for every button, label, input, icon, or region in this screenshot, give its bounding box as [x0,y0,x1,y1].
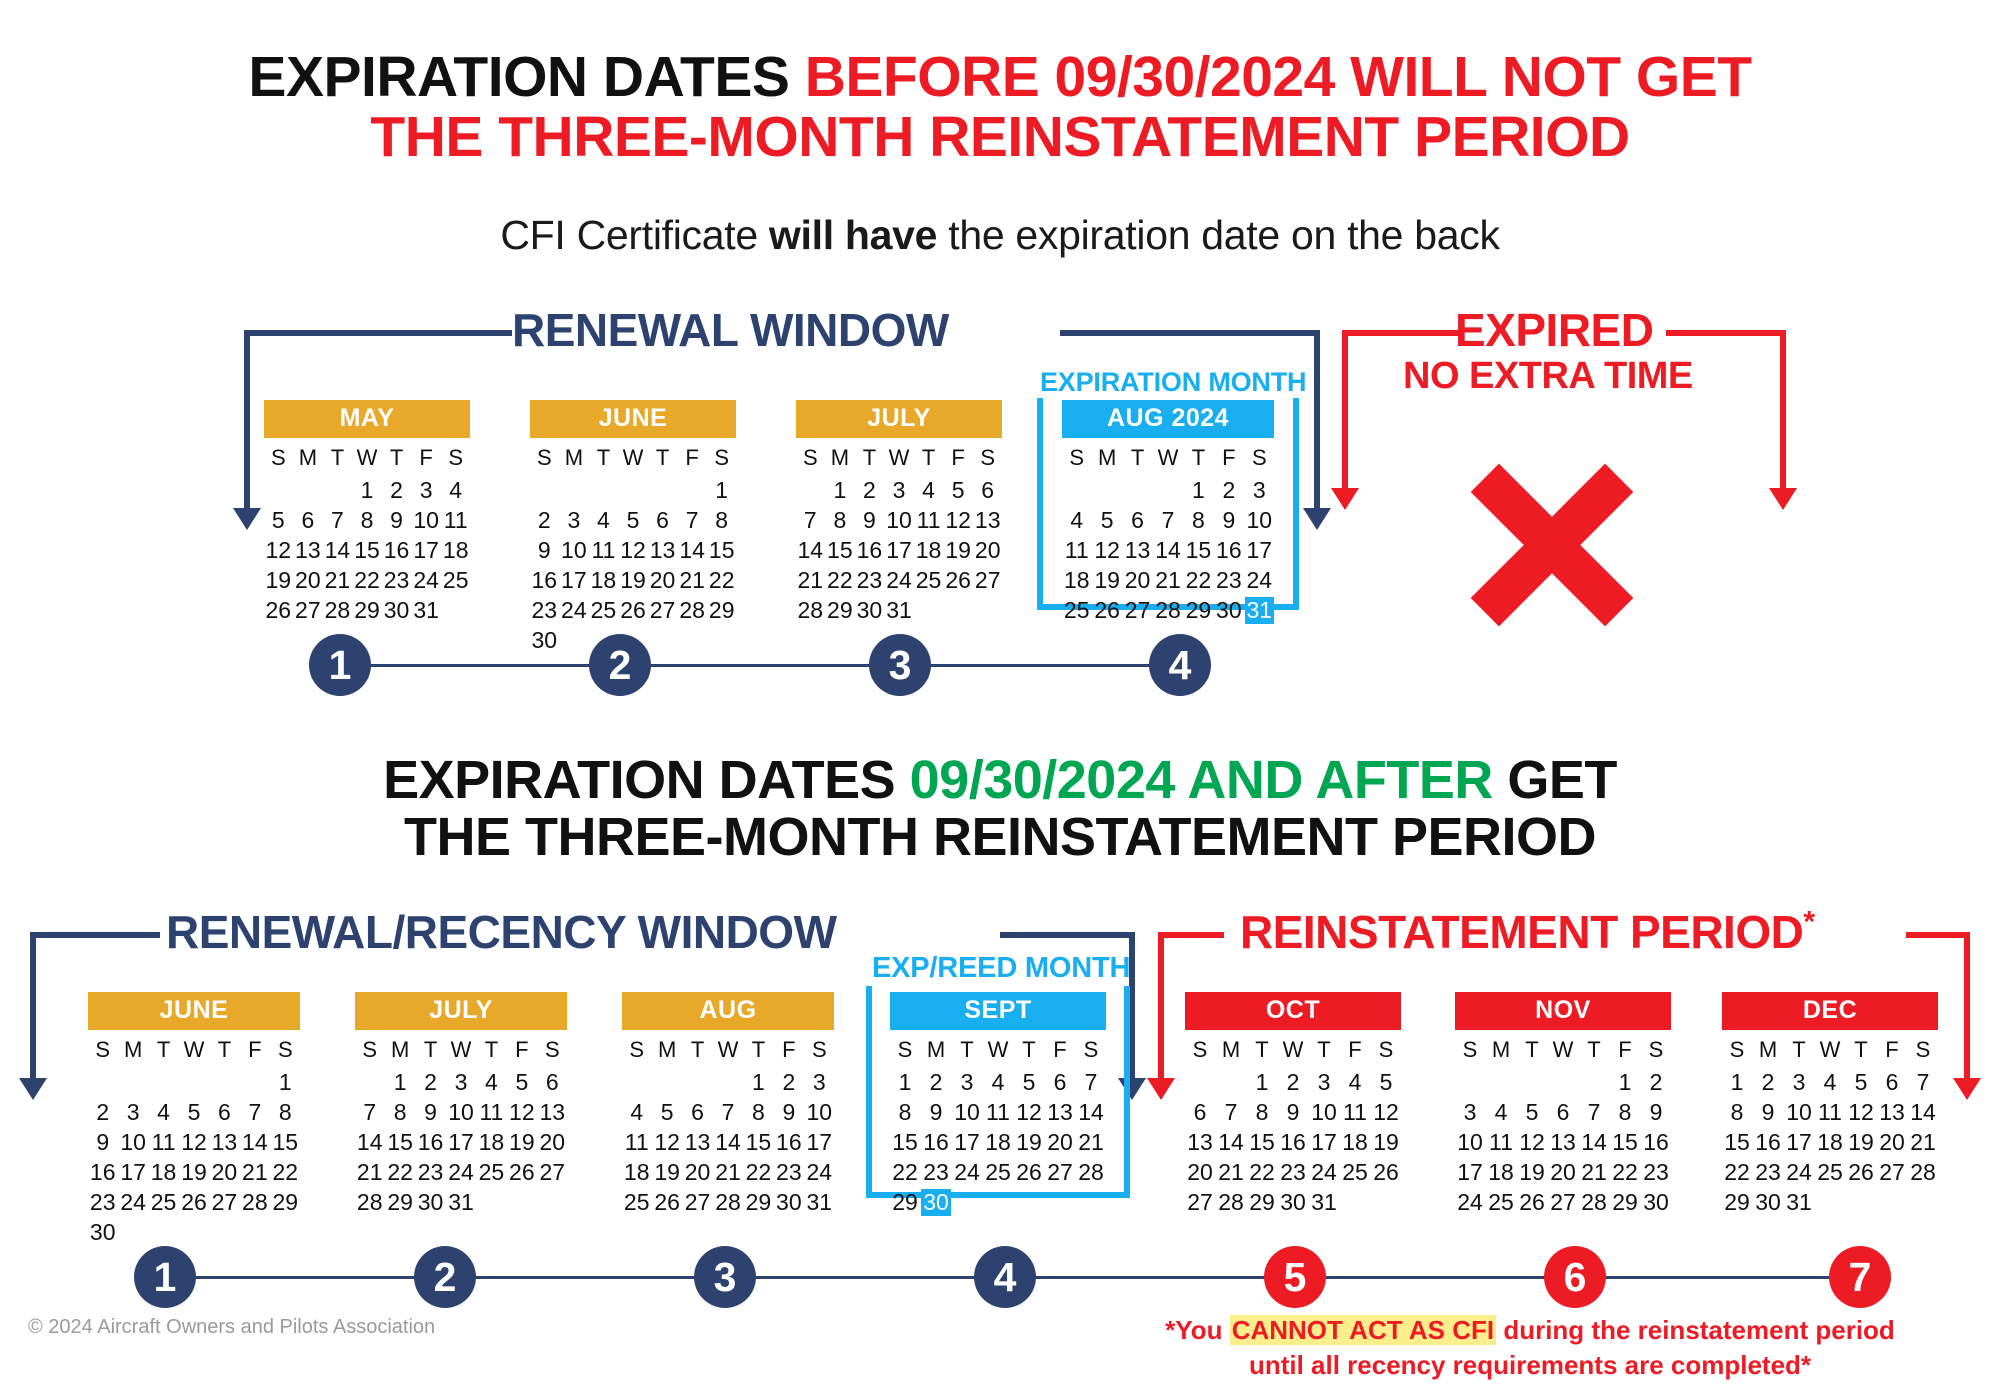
calendar-day: 23 [855,567,884,594]
calendar-day: 3 [805,1069,834,1096]
calendar-day-empty [355,1069,384,1096]
calendar-day: 25 [589,597,618,624]
timeline-step-1: 1 [309,634,371,696]
calendar-dow-label: S [538,1037,567,1066]
calendar-dow-label: W [1153,445,1182,474]
calendar-day: 4 [1815,1069,1845,1096]
calendar-month-header: DEC [1722,992,1938,1030]
calendar-day-empty [1123,477,1152,504]
timeline-step-3: 3 [869,634,931,696]
calendar-day: 29 [1610,1189,1640,1216]
calendar-day: 2 [921,1069,951,1096]
calendar-dow-label: W [353,445,382,474]
calendar-day: 26 [264,597,293,624]
timeline-step-3: 3 [694,1246,756,1308]
calendar-day: 11 [983,1099,1013,1126]
calendar-dow-label: S [1455,1037,1485,1066]
calendar-day-empty [648,477,677,504]
subtitle-post: the expiration date on the back [937,212,1500,258]
calendar-day: 1 [1247,1069,1277,1096]
calendar-day: 15 [744,1129,773,1156]
calendar-day: 11 [914,507,943,534]
calendar-day: 14 [323,537,352,564]
calendar-day: 31 [1309,1189,1339,1216]
calendar-dow-label: F [1610,1037,1640,1066]
calendar-day: 14 [796,537,825,564]
calendar-day: 23 [416,1159,445,1186]
calendar-day-empty [88,1069,117,1096]
calendar-day: 25 [477,1159,506,1186]
calendar-day: 10 [1245,507,1274,534]
calendar-day: 25 [983,1159,1013,1186]
calendar-day: 27 [538,1159,567,1186]
footnote: *You CANNOT ACT AS CFI during the reinst… [1090,1313,1970,1383]
calendar-day: 15 [826,537,855,564]
calendar-day: 24 [952,1159,982,1186]
calendar-day: 5 [1517,1099,1547,1126]
calendar-day: 1 [353,477,382,504]
calendar-day: 6 [294,507,323,534]
calendar-day: 14 [355,1129,384,1156]
calendar-day: 24 [885,567,914,594]
calendar-day: 5 [1014,1069,1044,1096]
calendar-day: 17 [446,1129,475,1156]
calendar-grid: SMTWTFS 12345678910111213141516171819202… [355,1037,567,1216]
calendar-day: 14 [240,1129,269,1156]
section2-headline-line2: THE THREE-MONTH REINSTATEMENT PERIOD [0,809,2000,866]
calendar-day: 11 [622,1129,651,1156]
calendar-dow-label: S [1245,445,1274,474]
calendar-day: 4 [441,477,470,504]
calendar-day: 20 [973,537,1002,564]
calendar-day: 22 [271,1159,300,1186]
calendar-day: 14 [1076,1099,1106,1126]
calendar-day: 18 [914,537,943,564]
calendar-dow-label: F [944,445,973,474]
calendar-day: 31 [885,597,914,624]
calendar-day-empty [1548,1069,1578,1096]
calendar-dow-label: S [355,1037,384,1066]
reinstatement-rail-left [1158,932,1224,938]
calendar-day: 13 [683,1129,712,1156]
calendar-july-2: JULYSMTWTFS 1234567891011121314151617181… [355,992,567,1216]
expired-rail-right [1666,330,1786,336]
calendar-day-empty [589,477,618,504]
calendar-day: 12 [944,507,973,534]
calendar-dow-label: S [1062,445,1091,474]
calendar-day-empty [323,477,352,504]
calendar-day: 1 [1722,1069,1752,1096]
calendar-dow-label: S [890,1037,920,1066]
calendar-dow-label: S [1371,1037,1401,1066]
calendar-day: 14 [1579,1129,1609,1156]
calendar-day: 22 [826,567,855,594]
footnote-post: during the reinstatement period [1496,1315,1895,1345]
calendar-oct: OCTSMTWTFS 12345678910111213141516171819… [1185,992,1401,1216]
calendar-day: 8 [1610,1099,1640,1126]
calendar-day: 7 [678,507,707,534]
section1-headline-line1: EXPIRATION DATES BEFORE 09/30/2024 WILL … [0,48,2000,108]
calendar-day: 4 [983,1069,1013,1096]
calendar-month-header: MAY [264,400,470,438]
calendar-day: 15 [271,1129,300,1156]
calendar-day: 22 [707,567,736,594]
calendar-day: 4 [149,1099,178,1126]
calendar-day: 18 [622,1159,651,1186]
calendar-day-empty [240,1069,269,1096]
calendar-dow-label: M [1486,1037,1516,1066]
calendar-day: 16 [88,1159,117,1186]
reinstatement-period-label: REINSTATEMENT PERIOD* [1240,905,1815,959]
calendar-grid: SMTWTFS 12345678910111213141516171819202… [1455,1037,1671,1216]
calendar-day: 21 [355,1159,384,1186]
calendar-day: 15 [1247,1129,1277,1156]
calendar-dow-label: M [560,445,589,474]
calendar-day-empty [210,1069,239,1096]
calendar-day: 3 [560,507,589,534]
calendar-day: 18 [589,567,618,594]
reinstatement-arrow-left [1147,1078,1175,1100]
calendar-day: 10 [1455,1129,1485,1156]
calendar-dow-label: W [619,445,648,474]
calendar-dow-label: M [118,1037,147,1066]
calendar-day: 29 [385,1189,414,1216]
calendar-grid: SMTWTFS 12345678910111213141516171819202… [88,1037,300,1246]
calendar-day: 3 [1784,1069,1814,1096]
calendar-june: JUNESMTWTFS 1234567891011121314151617181… [530,400,736,654]
calendar-day: 16 [1278,1129,1308,1156]
calendar-day: 4 [622,1099,651,1126]
calendar-day: 24 [805,1159,834,1186]
calendar-day: 12 [507,1099,536,1126]
calendar-dow-label: M [1092,445,1121,474]
calendar-day: 28 [1216,1189,1246,1216]
calendar-day: 5 [507,1069,536,1096]
calendar-grid: SMTWTFS 12345678910111213141516171819202… [796,445,1002,624]
calendar-day: 7 [1153,507,1182,534]
calendar-dow-label: S [707,445,736,474]
calendar-day: 22 [744,1159,773,1186]
subtitle-bold: will have [769,212,937,258]
calendar-dow-label: F [1045,1037,1075,1066]
headline2-text-black-pre: EXPIRATION DATES [383,750,910,810]
calendar-month-header: JULY [796,400,1002,438]
headline-text-red: BEFORE 09/30/2024 WILL NOT GET [805,45,1752,109]
calendar-day: 30 [416,1189,445,1216]
calendar-day-empty [1216,1069,1246,1096]
calendar-dow-label: T [952,1037,982,1066]
calendar-day: 5 [1092,507,1121,534]
reinstatement-stem-left [1158,932,1164,1080]
calendar-day: 23 [1753,1159,1783,1186]
calendar-day: 4 [914,477,943,504]
calendar-day: 2 [1214,477,1243,504]
reinstatement-stem-right [1964,932,1970,1080]
calendar-day: 2 [774,1069,803,1096]
calendar-day: 4 [1340,1069,1370,1096]
calendar-day: 15 [1722,1129,1752,1156]
calendar-dow-label: F [678,445,707,474]
expired-arrow-right [1769,488,1797,510]
calendar-day: 2 [855,477,884,504]
calendar-day: 30 [774,1189,803,1216]
calendar-day: 19 [1092,567,1121,594]
calendar-dow-label: M [294,445,323,474]
calendar-day-empty [622,1069,651,1096]
calendar-day: 26 [179,1189,208,1216]
calendar-dow-label: T [1123,445,1152,474]
calendar-day: 25 [1486,1189,1516,1216]
recency-window-rail-right [1000,932,1135,938]
calendar-dow-label: W [885,445,914,474]
expired-x-icon [1470,450,1650,650]
calendar-day-empty [1517,1069,1547,1096]
calendar-day: 26 [944,567,973,594]
calendar-day: 17 [1245,537,1274,564]
calendar-day: 7 [240,1099,269,1126]
calendar-day: 15 [707,537,736,564]
calendar-day: 30 [382,597,411,624]
calendar-day: 12 [1846,1099,1876,1126]
calendar-day: 16 [1753,1129,1783,1156]
calendar-day: 11 [441,507,470,534]
calendar-day: 3 [412,477,441,504]
renewal-window-label: RENEWAL WINDOW [512,303,949,357]
calendar-day: 8 [1722,1099,1752,1126]
calendar-day: 20 [1877,1129,1907,1156]
calendar-day: 28 [678,597,707,624]
calendar-dow-label: M [1216,1037,1246,1066]
calendar-day: 25 [149,1189,178,1216]
expired-stem-right [1780,330,1786,490]
calendar-day: 18 [441,537,470,564]
calendar-may: MAYSMTWTFS 12345678910111213141516171819… [264,400,470,624]
calendar-day-empty [1455,1069,1485,1096]
calendar-day: 12 [1092,537,1121,564]
calendar-day: 9 [88,1129,117,1156]
calendar-day: 18 [1815,1129,1845,1156]
expired-label: EXPIRED [1455,303,1653,357]
calendar-day: 6 [1045,1069,1075,1096]
calendar-day: 27 [294,597,323,624]
calendar-dow-label: M [652,1037,681,1066]
renewal-window-rail-right [1060,330,1320,336]
calendar-day: 28 [796,597,825,624]
calendar-dow-label: T [1014,1037,1044,1066]
calendar-day: 25 [441,567,470,594]
calendar-day: 28 [355,1189,384,1216]
calendar-day: 27 [1548,1189,1578,1216]
calendar-grid: SMTWTFS 12345678910111213141516171819202… [622,1037,834,1216]
calendar-day: 26 [652,1189,681,1216]
calendar-day: 21 [678,567,707,594]
calendar-day: 18 [983,1129,1013,1156]
calendar-day-highlighted: 30 [921,1189,951,1216]
timeline-step-1: 1 [134,1246,196,1308]
calendar-day: 16 [855,537,884,564]
calendar-day: 19 [1371,1129,1401,1156]
calendar-day: 10 [118,1129,147,1156]
calendar-day: 7 [323,507,352,534]
subtitle-pre: CFI Certificate [500,212,769,258]
calendar-dow-label: S [271,1037,300,1066]
calendar-day: 3 [1309,1069,1339,1096]
section2-headline-line1: EXPIRATION DATES 09/30/2024 AND AFTER GE… [0,752,2000,809]
calendar-day: 8 [353,507,382,534]
calendar-aug-2024: AUG 2024SMTWTFS 123456789101112131415161… [1062,400,1274,624]
calendar-day: 25 [914,567,943,594]
calendar-dow-label: T [1247,1037,1277,1066]
calendar-day: 17 [805,1129,834,1156]
calendar-day: 8 [707,507,736,534]
calendar-day: 20 [1123,567,1152,594]
timeline-step-6: 6 [1544,1246,1606,1308]
calendar-day: 2 [382,477,411,504]
calendar-day: 16 [382,537,411,564]
calendar-day: 11 [149,1129,178,1156]
calendar-day-empty [683,1069,712,1096]
calendar-day: 20 [1045,1129,1075,1156]
calendar-day: 12 [1014,1099,1044,1126]
calendar-day: 17 [560,567,589,594]
calendar-day: 29 [826,597,855,624]
calendar-day: 1 [826,477,855,504]
calendar-dow-label: T [914,445,943,474]
calendar-day: 12 [179,1129,208,1156]
calendar-day: 21 [323,567,352,594]
calendar-dow-label: T [589,445,618,474]
recency-window-arrow-left [19,1078,47,1100]
calendar-month-header: SEPT [890,992,1106,1030]
calendar-day: 29 [744,1189,773,1216]
renewal-window-stem-left [244,330,250,510]
calendar-day: 30 [1278,1189,1308,1216]
calendar-day: 21 [1579,1159,1609,1186]
calendar-day: 10 [885,507,914,534]
calendar-day: 14 [1216,1129,1246,1156]
calendar-day: 26 [1371,1159,1401,1186]
calendar-dow-label: T [210,1037,239,1066]
calendar-day: 19 [264,567,293,594]
calendar-day: 5 [944,477,973,504]
infographic-canvas: EXPIRATION DATES BEFORE 09/30/2024 WILL … [0,0,2000,1399]
calendar-dow-label: T [1309,1037,1339,1066]
calendar-day: 6 [648,507,677,534]
calendar-day: 10 [1784,1099,1814,1126]
calendar-day: 22 [1610,1159,1640,1186]
calendar-dow-label: S [1722,1037,1752,1066]
calendar-day-empty [1092,477,1121,504]
calendar-grid: SMTWTFS 12345678910111213141516171819202… [1062,445,1274,624]
calendar-day: 10 [560,537,589,564]
timeline-step-4: 4 [974,1246,1036,1308]
calendar-day: 6 [973,477,1002,504]
footnote-line1: *You CANNOT ACT AS CFI during the reinst… [1090,1313,1970,1348]
calendar-day-empty [118,1069,147,1096]
calendar-day: 17 [412,537,441,564]
calendar-dow-label: M [826,445,855,474]
calendar-day: 5 [1371,1069,1401,1096]
calendar-day: 27 [210,1189,239,1216]
calendar-day: 24 [1455,1189,1485,1216]
calendar-day: 1 [1184,477,1213,504]
calendar-dow-label: W [1815,1037,1845,1066]
calendar-day: 20 [1185,1159,1215,1186]
calendar-day: 12 [264,537,293,564]
reinstatement-period-text: REINSTATEMENT PERIOD [1240,906,1803,958]
timeline-step-2: 2 [414,1246,476,1308]
calendar-day: 1 [744,1069,773,1096]
calendar-day: 14 [1153,537,1182,564]
calendar-dow-label: F [1877,1037,1907,1066]
calendar-day: 25 [1815,1159,1845,1186]
calendar-day: 19 [179,1159,208,1186]
calendar-dow-label: S [88,1037,117,1066]
calendar-day: 28 [1908,1159,1938,1186]
calendar-day: 19 [1846,1129,1876,1156]
reinstatement-rail-right [1906,932,1970,938]
calendar-day: 9 [1641,1099,1671,1126]
calendar-month-header: AUG [622,992,834,1030]
calendar-day: 13 [294,537,323,564]
calendar-day: 18 [1062,567,1091,594]
calendar-day: 27 [973,567,1002,594]
calendar-dow-label: T [683,1037,712,1066]
calendar-aug-2: AUGSMTWTFS 12345678910111213141516171819… [622,992,834,1216]
calendar-day: 13 [973,507,1002,534]
calendar-dow-label: M [921,1037,951,1066]
footnote-highlight: CANNOT ACT AS CFI [1230,1315,1496,1345]
calendar-day: 13 [538,1099,567,1126]
timeline-step-7: 7 [1829,1246,1891,1308]
calendar-day-empty [1153,477,1182,504]
expired-stem-left [1342,330,1348,490]
exp-reed-month-label: EXP/REED MONTH [872,952,1130,985]
renewal-window-arrow-left [233,508,261,530]
calendar-day-empty [1062,477,1091,504]
calendar-day: 18 [477,1129,506,1156]
calendar-day: 21 [240,1159,269,1186]
calendar-day-empty [619,477,648,504]
calendar-day: 31 [1784,1189,1814,1216]
calendar-day: 15 [353,537,382,564]
calendar-dow-label: S [805,1037,834,1066]
calendar-day: 17 [1784,1129,1814,1156]
calendar-day: 7 [713,1099,742,1126]
calendar-day: 21 [1076,1129,1106,1156]
calendar-day: 19 [619,567,648,594]
headline2-text-black-post: GET [1493,750,1617,810]
calendar-day: 7 [355,1099,384,1126]
calendar-day: 1 [1610,1069,1640,1096]
calendar-dow-label: S [1076,1037,1106,1066]
expired-arrow-left [1331,488,1359,510]
calendar-dow-label: T [149,1037,178,1066]
calendar-day: 21 [713,1159,742,1186]
calendar-day-highlighted: 31 [1245,597,1274,624]
calendar-day: 22 [1722,1159,1752,1186]
renewal-window-arrow-right [1303,508,1331,530]
calendar-day: 8 [1184,507,1213,534]
calendar-july: JULYSMTWTFS 1234567891011121314151617181… [796,400,1002,624]
renewal-window-rail-left [244,330,512,336]
calendar-day: 27 [683,1189,712,1216]
footnote-pre: *You [1165,1315,1230,1345]
calendar-day: 27 [1123,597,1152,624]
calendar-day: 6 [1548,1099,1578,1126]
timeline-step-4: 4 [1149,634,1211,696]
calendar-day: 4 [589,507,618,534]
